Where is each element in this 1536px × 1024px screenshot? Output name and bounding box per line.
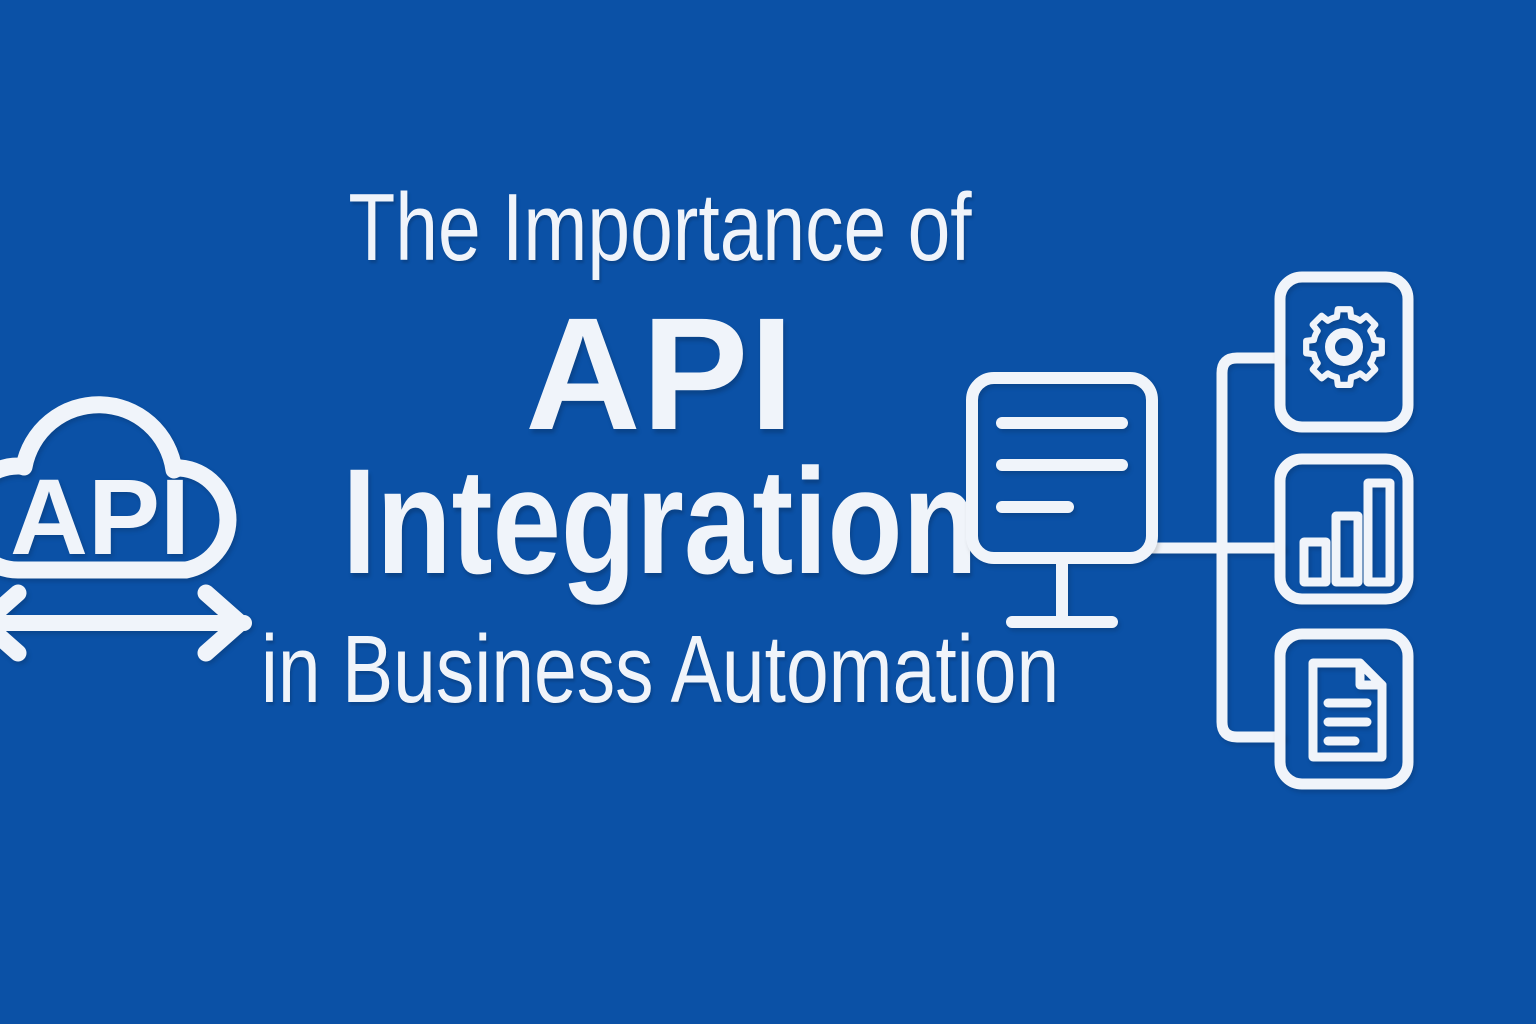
title-line-post: in Business Automation: [260, 622, 1060, 718]
node-analytics[interactable]: [1280, 459, 1408, 599]
document-icon: [1313, 663, 1382, 757]
branch-connector-icon: [1151, 358, 1280, 737]
title-line-main2: Integration: [250, 446, 1070, 596]
title-line-pre: The Importance of: [260, 180, 1060, 276]
integration-diagram: [950, 260, 1430, 800]
gear-icon: [1306, 302, 1410, 385]
node-document[interactable]: [1280, 634, 1408, 784]
server-monitor-icon: [972, 378, 1152, 622]
poster-canvas: API The Importance of API Integration in…: [0, 0, 1536, 1024]
node-settings[interactable]: [1280, 277, 1410, 427]
bar-chart-icon: [1304, 483, 1390, 582]
